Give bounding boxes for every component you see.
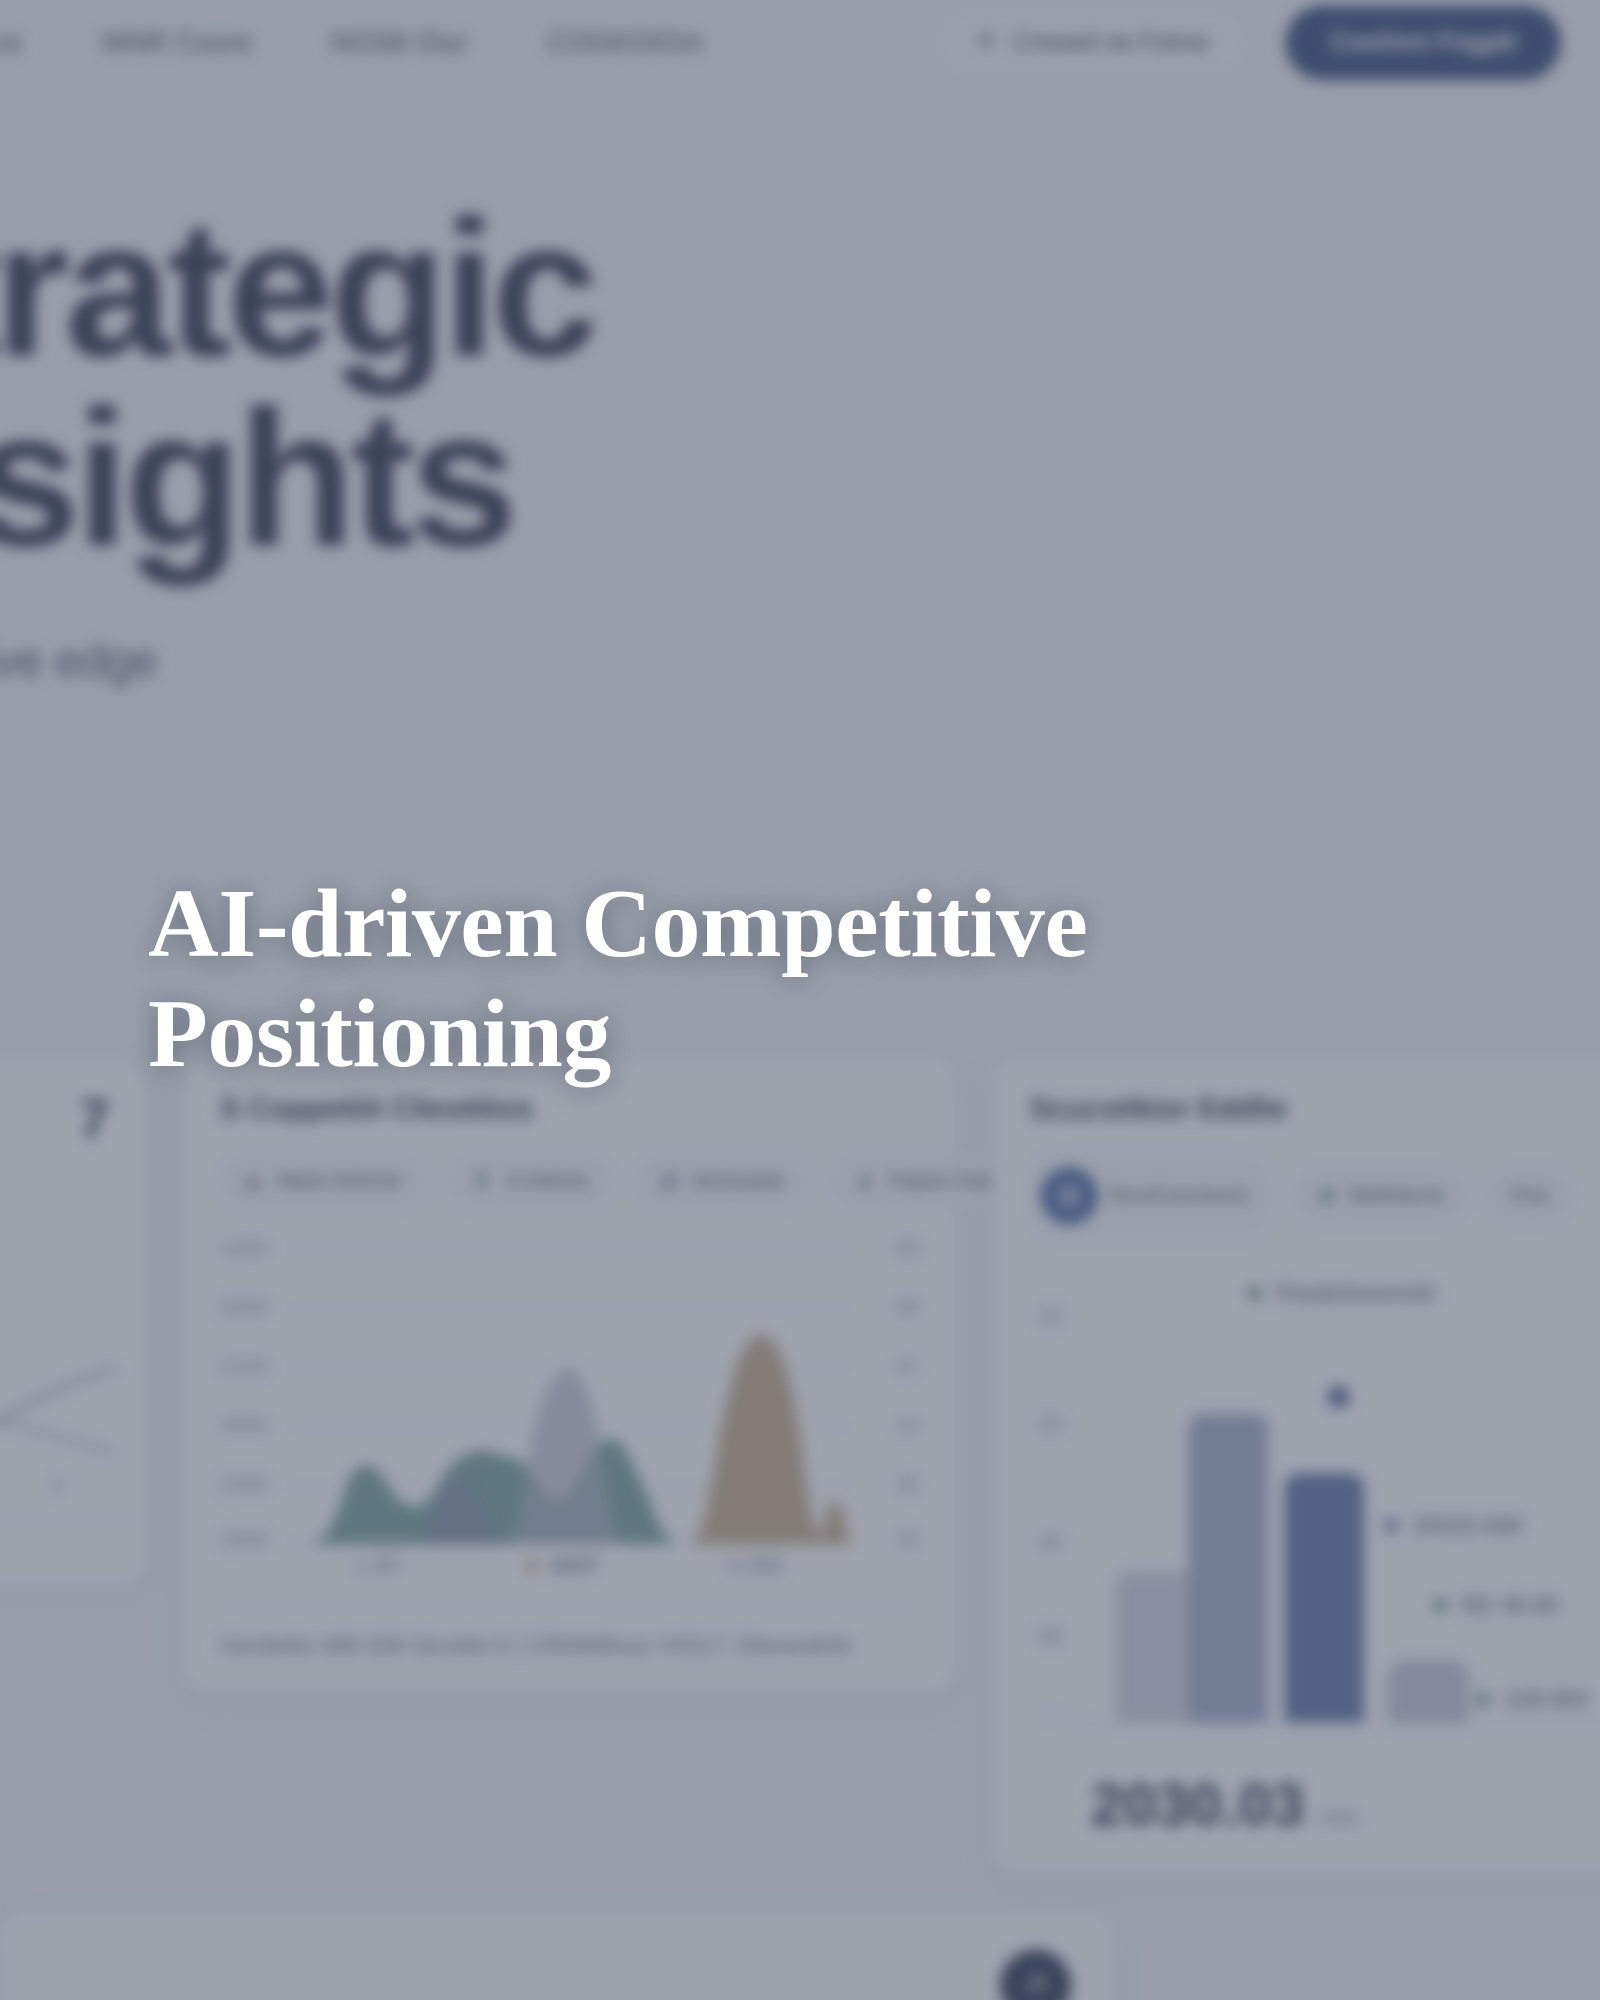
- nav-link-2[interactable]: WNR Coure: [101, 26, 251, 58]
- ridge-x-2: 4007: [527, 1553, 599, 1580]
- overlay-title: AI-driven Competitive Positioning: [148, 870, 1408, 1090]
- ridge-x-dot: [527, 1560, 539, 1572]
- ridge-x-3: 0.300: [728, 1553, 784, 1580]
- bar-4: [1389, 1661, 1469, 1724]
- mini-line-chart: [0, 1333, 148, 1455]
- globe-icon: [1041, 1167, 1098, 1224]
- ridge-y-left-6: 1600: [220, 1528, 268, 1552]
- ridge-y-right-3: 47: [896, 1355, 920, 1379]
- chip-leaf[interactable]: BalSduna: [1292, 1169, 1466, 1222]
- legend-item-2: 20020 690: [1384, 1512, 1522, 1540]
- right-card-big-number: 2030.03min: [1030, 1771, 1600, 1839]
- tree-icon: [854, 1170, 876, 1192]
- ridge-y-left-5: 2300: [220, 1473, 268, 1497]
- target-icon: [658, 1170, 680, 1192]
- ridge-area-gold: [687, 1334, 852, 1544]
- legend-item-3: RE 48.90: [1433, 1592, 1558, 1620]
- mini-chart-x-axis: 0 2: [0, 1474, 116, 1497]
- nav-links: ce WNR Coure NOS8 Glur COGKOIOm: [0, 26, 703, 58]
- comparison-table-card[interactable]: ornics OvGotbtn Rnta toItdcB: [0, 1910, 1115, 2000]
- competitive-clusters-card[interactable]: S Coppetiiii Cliesttiios Mare-Simrne A I…: [182, 1056, 957, 1695]
- right-card-title: Scucstikior Eddlie: [1030, 1092, 1600, 1127]
- hero-subheading: competitive edge: [0, 633, 1239, 688]
- bar-3: [1285, 1473, 1365, 1724]
- ridge-y-right-1: 93: [896, 1237, 920, 1261]
- ridge-card-footer: Oonbelio 468 028 Sicvtde 6 ( CRAbldluzo …: [220, 1606, 920, 1659]
- arrow-diagonal-icon: [1019, 1969, 1052, 2000]
- legend-item-1: Pesds0ooonsih: [1248, 1279, 1436, 1307]
- secondary-cta-label: Creoed ne Fotnw: [1013, 27, 1209, 57]
- scenario-edge-card[interactable]: Scucstikior Eddlie RoxiCouciiuno BalSdun…: [992, 1056, 1600, 1875]
- ridge-card-title: S Coppetiiii Cliesttiios: [220, 1092, 920, 1127]
- bars-y-2: 20: [1038, 1411, 1063, 1438]
- bar-chart-icon: [243, 1170, 265, 1192]
- chip-right-label-1: RoxiCouciiuno: [1110, 1184, 1248, 1208]
- right-card-chips: RoxiCouciiuno BalSduna Pea: [1030, 1153, 1600, 1239]
- chip-label-3: Iecisuaoe: [693, 1169, 785, 1193]
- nav-actions: Creoed ne Fotnw Coolisni Fogplt: [933, 5, 1561, 79]
- chip-label-2: A Ivilciso: [506, 1169, 589, 1193]
- ridge-y-right-5: 40: [896, 1473, 920, 1497]
- chip-label-1: Mare-Simrne: [278, 1169, 402, 1193]
- metric-mini-card[interactable]: 7 0 2 039.959: [0, 1056, 147, 1586]
- dashboard-top-row: 7 0 2 039.959 S Coppetiiii Cliesttiios: [0, 1056, 1600, 1875]
- legend-item-4: 109.950: [1476, 1685, 1588, 1713]
- ridge-filter-chips: Mare-Simrne A Ivilciso Iecisuaoe: [220, 1155, 920, 1208]
- top-navigation-bar: ce WNR Coure NOS8 Glur COGKOIOm Creoed n…: [0, 0, 1600, 104]
- nav-link-1[interactable]: ce: [0, 26, 22, 58]
- funnel-icon: [471, 1170, 493, 1192]
- chip-bar-chart[interactable]: Mare-Simrne: [220, 1155, 425, 1208]
- hero-section: Strategic Insights competitive edge: [0, 194, 1239, 688]
- chip-globe[interactable]: RoxiCouciiuno: [1030, 1153, 1272, 1239]
- hero-heading: Strategic Insights: [0, 194, 1239, 574]
- ridge-y-right-4: 14: [896, 1414, 920, 1438]
- bars-y-4: 06: [1038, 1623, 1063, 1650]
- dashboard-preview: 7 0 2 039.959 S Coppetiiii Cliesttiios: [0, 1056, 1600, 2000]
- secondary-cta-button[interactable]: Creoed ne Fotnw: [933, 6, 1249, 78]
- scatter-point-blue: [1327, 1386, 1349, 1408]
- mini-card-footer: 039.959: [0, 1520, 146, 1575]
- primary-cta-button[interactable]: Coolisni Fogplt: [1286, 5, 1561, 79]
- bar-1: [1115, 1571, 1195, 1724]
- nav-link-3[interactable]: NOS8 Glur: [331, 26, 468, 58]
- ridge-y-left-2: 2000: [220, 1296, 268, 1320]
- leaf-icon: [1316, 1185, 1338, 1207]
- nav-link-4[interactable]: COGKOIOm: [547, 26, 703, 58]
- ridgeline-areas: [283, 1239, 854, 1545]
- bars-y-3: 30: [1038, 1529, 1063, 1556]
- bar-2: [1189, 1414, 1269, 1724]
- bars-y-5: —: [1038, 1701, 1060, 1728]
- ridge-y-left-4: 3000: [220, 1414, 268, 1438]
- expand-fab-button[interactable]: [1000, 1950, 1071, 2000]
- ridge-y-right-6: 43: [896, 1528, 920, 1552]
- ridge-y-right-2: 69: [896, 1296, 920, 1320]
- chip-target[interactable]: Iecisuaoe: [635, 1155, 808, 1208]
- hero-heading-line-1: Strategic: [0, 181, 594, 397]
- chip-funnel[interactable]: A Ivilciso: [447, 1155, 612, 1208]
- hero-heading-line-2: Insights: [0, 371, 513, 587]
- chip-plain[interactable]: Pea: [1487, 1169, 1572, 1222]
- mini-card-value: 7: [79, 1088, 110, 1151]
- chip-right-label-3: Pea: [1510, 1184, 1548, 1208]
- scenario-bar-chart: 10 20 30 06 — Pesds0ooonsih 20020 690 RE…: [1030, 1286, 1600, 1765]
- ridge-y-left-3: 2100: [220, 1355, 268, 1379]
- ridge-x-labels: 1.00 4007 0.300: [220, 1553, 920, 1580]
- bars-baseline: [1078, 1722, 1600, 1724]
- ridge-x-1: 1.00: [355, 1553, 399, 1580]
- ridge-y-left-1: 1400: [220, 1237, 268, 1261]
- ridgeline-chart: 1400 2000 2100 3000 2300 1600 93 69 47 1…: [220, 1239, 920, 1545]
- sparkle-icon: [973, 29, 1000, 56]
- bars-y-1: 10: [1038, 1303, 1063, 1330]
- chip-right-label-2: BalSduna: [1350, 1184, 1443, 1208]
- mini-x-tick-2: 2: [52, 1474, 63, 1497]
